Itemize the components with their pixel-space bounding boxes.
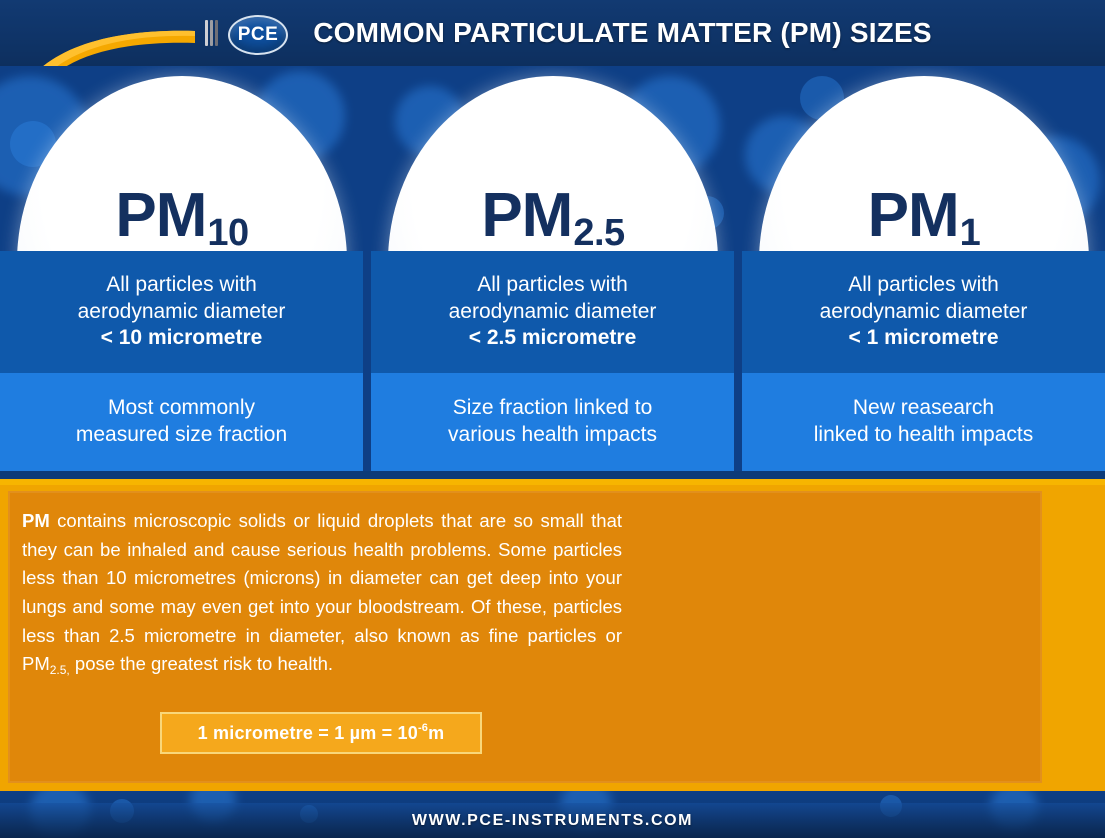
- pm-card[interactable]: PM1 All particles with aerodynamic diame…: [742, 66, 1105, 471]
- info-body-part2: pose the greatest risk to health.: [70, 653, 333, 674]
- pm-note-line2: linked to health impacts: [814, 422, 1033, 449]
- header-bar: PCE COMMON PARTICULATE MATTER (PM) SIZES: [0, 0, 1105, 66]
- pm-card-list: PM10 All particles with aerodynamic diam…: [0, 66, 1105, 471]
- pm-note-line2: measured size fraction: [76, 422, 287, 449]
- pm-note-line1: New reasearch: [853, 395, 994, 422]
- pm-def-line3: < 2.5 micrometre: [469, 325, 637, 352]
- pm-card[interactable]: PM10 All particles with aerodynamic diam…: [0, 66, 363, 471]
- pm-def-line1: All particles with: [477, 272, 628, 299]
- pm-card-dome: PM2.5: [371, 66, 734, 251]
- pm-subscript: 1: [960, 212, 981, 251]
- pm-definition-band: All particles with aerodynamic diameter …: [371, 251, 734, 373]
- info-lead: PM: [22, 510, 50, 531]
- pm-label: PM2.5: [371, 66, 734, 251]
- pm-def-line1: All particles with: [848, 272, 999, 299]
- info-section: PM contains microscopic solids or liquid…: [0, 479, 1105, 797]
- infographic-page: PCE COMMON PARTICULATE MATTER (PM) SIZES: [0, 0, 1105, 838]
- pm-card-dome: PM1: [742, 66, 1105, 251]
- pm-label: PM10: [0, 66, 363, 251]
- pm-note-band: New reasearch linked to health impacts: [742, 373, 1105, 471]
- pm-def-line1: All particles with: [106, 272, 257, 299]
- formula-box: 1 micrometre = 1 µm = 10-6 m: [160, 712, 482, 754]
- page-title: COMMON PARTICULATE MATTER (PM) SIZES: [0, 0, 1105, 66]
- info-body-subscript: 2.5,: [50, 663, 70, 677]
- pm-subscript: 10: [207, 212, 248, 251]
- pm-label: PM1: [742, 66, 1105, 251]
- pm-def-line2: aerodynamic diameter: [78, 299, 286, 326]
- pm-note-line1: Size fraction linked to: [453, 395, 653, 422]
- footer-url[interactable]: WWW.PCE-INSTRUMENTS.COM: [0, 803, 1105, 838]
- pm-prefix: PM: [868, 181, 959, 250]
- formula-prefix: 1 micrometre = 1 µm = 10: [198, 723, 418, 744]
- pm-subscript: 2.5: [573, 212, 624, 251]
- pm-def-line3: < 1 micrometre: [849, 325, 999, 352]
- formula-suffix: m: [428, 723, 444, 744]
- pm-note-line2: various health impacts: [448, 422, 657, 449]
- info-paragraph: PM contains microscopic solids or liquid…: [22, 507, 622, 679]
- pm-def-line3: < 10 micrometre: [101, 325, 263, 352]
- pm-definition-band: All particles with aerodynamic diameter …: [0, 251, 363, 373]
- pm-prefix: PM: [115, 181, 206, 250]
- pm-def-line2: aerodynamic diameter: [449, 299, 657, 326]
- pm-card[interactable]: PM2.5 All particles with aerodynamic dia…: [371, 66, 734, 471]
- pm-note-line1: Most commonly: [108, 395, 255, 422]
- pm-note-band: Size fraction linked to various health i…: [371, 373, 734, 471]
- pm-prefix: PM: [481, 181, 572, 250]
- pm-def-line2: aerodynamic diameter: [820, 299, 1028, 326]
- pm-cards-section: PM10 All particles with aerodynamic diam…: [0, 66, 1105, 471]
- pm-card-dome: PM10: [0, 66, 363, 251]
- formula-exponent: -6: [418, 722, 428, 734]
- pm-note-band: Most commonly measured size fraction: [0, 373, 363, 471]
- info-body-part1: contains microscopic solids or liquid dr…: [22, 510, 622, 674]
- pm-definition-band: All particles with aerodynamic diameter …: [742, 251, 1105, 373]
